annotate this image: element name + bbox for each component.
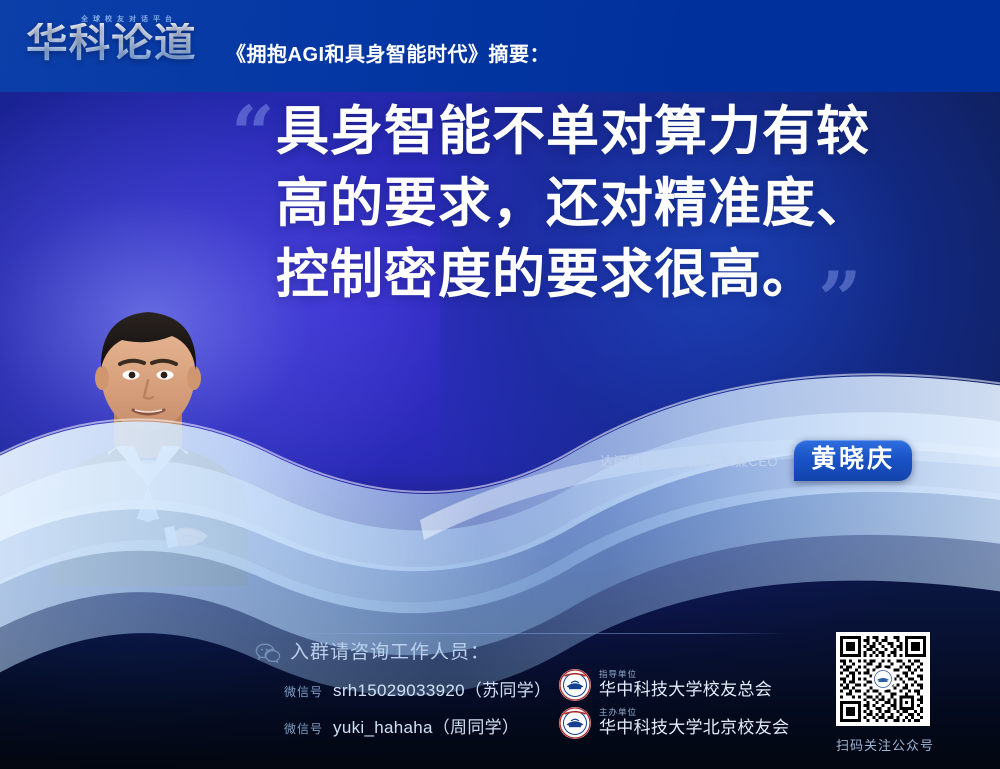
qr-caption: 扫码关注公众号 xyxy=(836,735,934,754)
organization-row: 指导单位 华中科技大学校友总会 xyxy=(558,668,772,702)
organization-text: 主办单位 华中科技大学北京校友会 xyxy=(599,708,789,737)
quote-line: 控制密度的要求很高。 xyxy=(276,239,948,311)
contact-row[interactable]: 微信号 yuki_hahaha（周同学） xyxy=(284,713,519,738)
quote-line: 具身智能不单对算力有较 xyxy=(276,96,948,168)
organization-name: 华中科技大学北京校友会 xyxy=(599,719,789,738)
organization-row: 主办单位 华中科技大学北京校友会 xyxy=(558,706,789,740)
hust-alumni-seal-icon xyxy=(558,668,592,702)
contact-value: yuki_hahaha（周同学） xyxy=(333,713,519,738)
organization-kicker: 指导单位 xyxy=(599,670,772,679)
contact-label: 微信号 xyxy=(284,683,323,700)
footer-divider xyxy=(290,633,785,634)
header-band: 全球校友对话平台 华科论道 《拥抱AGI和具身智能时代》摘要： xyxy=(0,0,1000,92)
qr-section: 扫码关注公众号 xyxy=(836,632,934,754)
brand-logo[interactable]: 全球校友对话平台 华科论道 xyxy=(26,12,222,74)
quote-line: 高的要求，还对精准度、 xyxy=(276,168,948,240)
qr-code-icon[interactable] xyxy=(836,632,930,726)
attribution: 达闼机器人公司董事长兼CEO 黄晓庆 xyxy=(600,437,912,483)
organization-text: 指导单位 华中科技大学校友总会 xyxy=(599,670,772,699)
poster-canvas: 全球校友对话平台 华科论道 《拥抱AGI和具身智能时代》摘要： “ 具身智能不单… xyxy=(0,0,1000,769)
logo-wordmark: 华科论道 xyxy=(26,23,197,63)
speaker-role: 达闼机器人公司董事长兼CEO xyxy=(600,451,778,470)
footer-heading: 入群请咨询工作人员： xyxy=(290,637,490,664)
hust-beijing-alumni-seal-icon xyxy=(558,706,592,740)
qr-center-logo-icon xyxy=(873,669,893,689)
page-title: 《拥抱AGI和具身智能时代》摘要： xyxy=(226,38,550,67)
organization-kicker: 主办单位 xyxy=(599,708,789,717)
quote-text: 具身智能不单对算力有较 高的要求，还对精准度、 控制密度的要求很高。 xyxy=(276,96,948,311)
contact-row[interactable]: 微信号 srh15029033920（苏同学） xyxy=(284,676,551,701)
speaker-name-badge: 黄晓庆 xyxy=(794,440,912,481)
quote-open-mark: “ xyxy=(231,96,275,172)
organization-name: 华中科技大学校友总会 xyxy=(599,681,772,700)
avatar xyxy=(22,296,274,586)
contact-value: srh15029033920（苏同学） xyxy=(333,676,551,701)
contact-label: 微信号 xyxy=(284,720,323,737)
wechat-icon xyxy=(255,643,281,663)
